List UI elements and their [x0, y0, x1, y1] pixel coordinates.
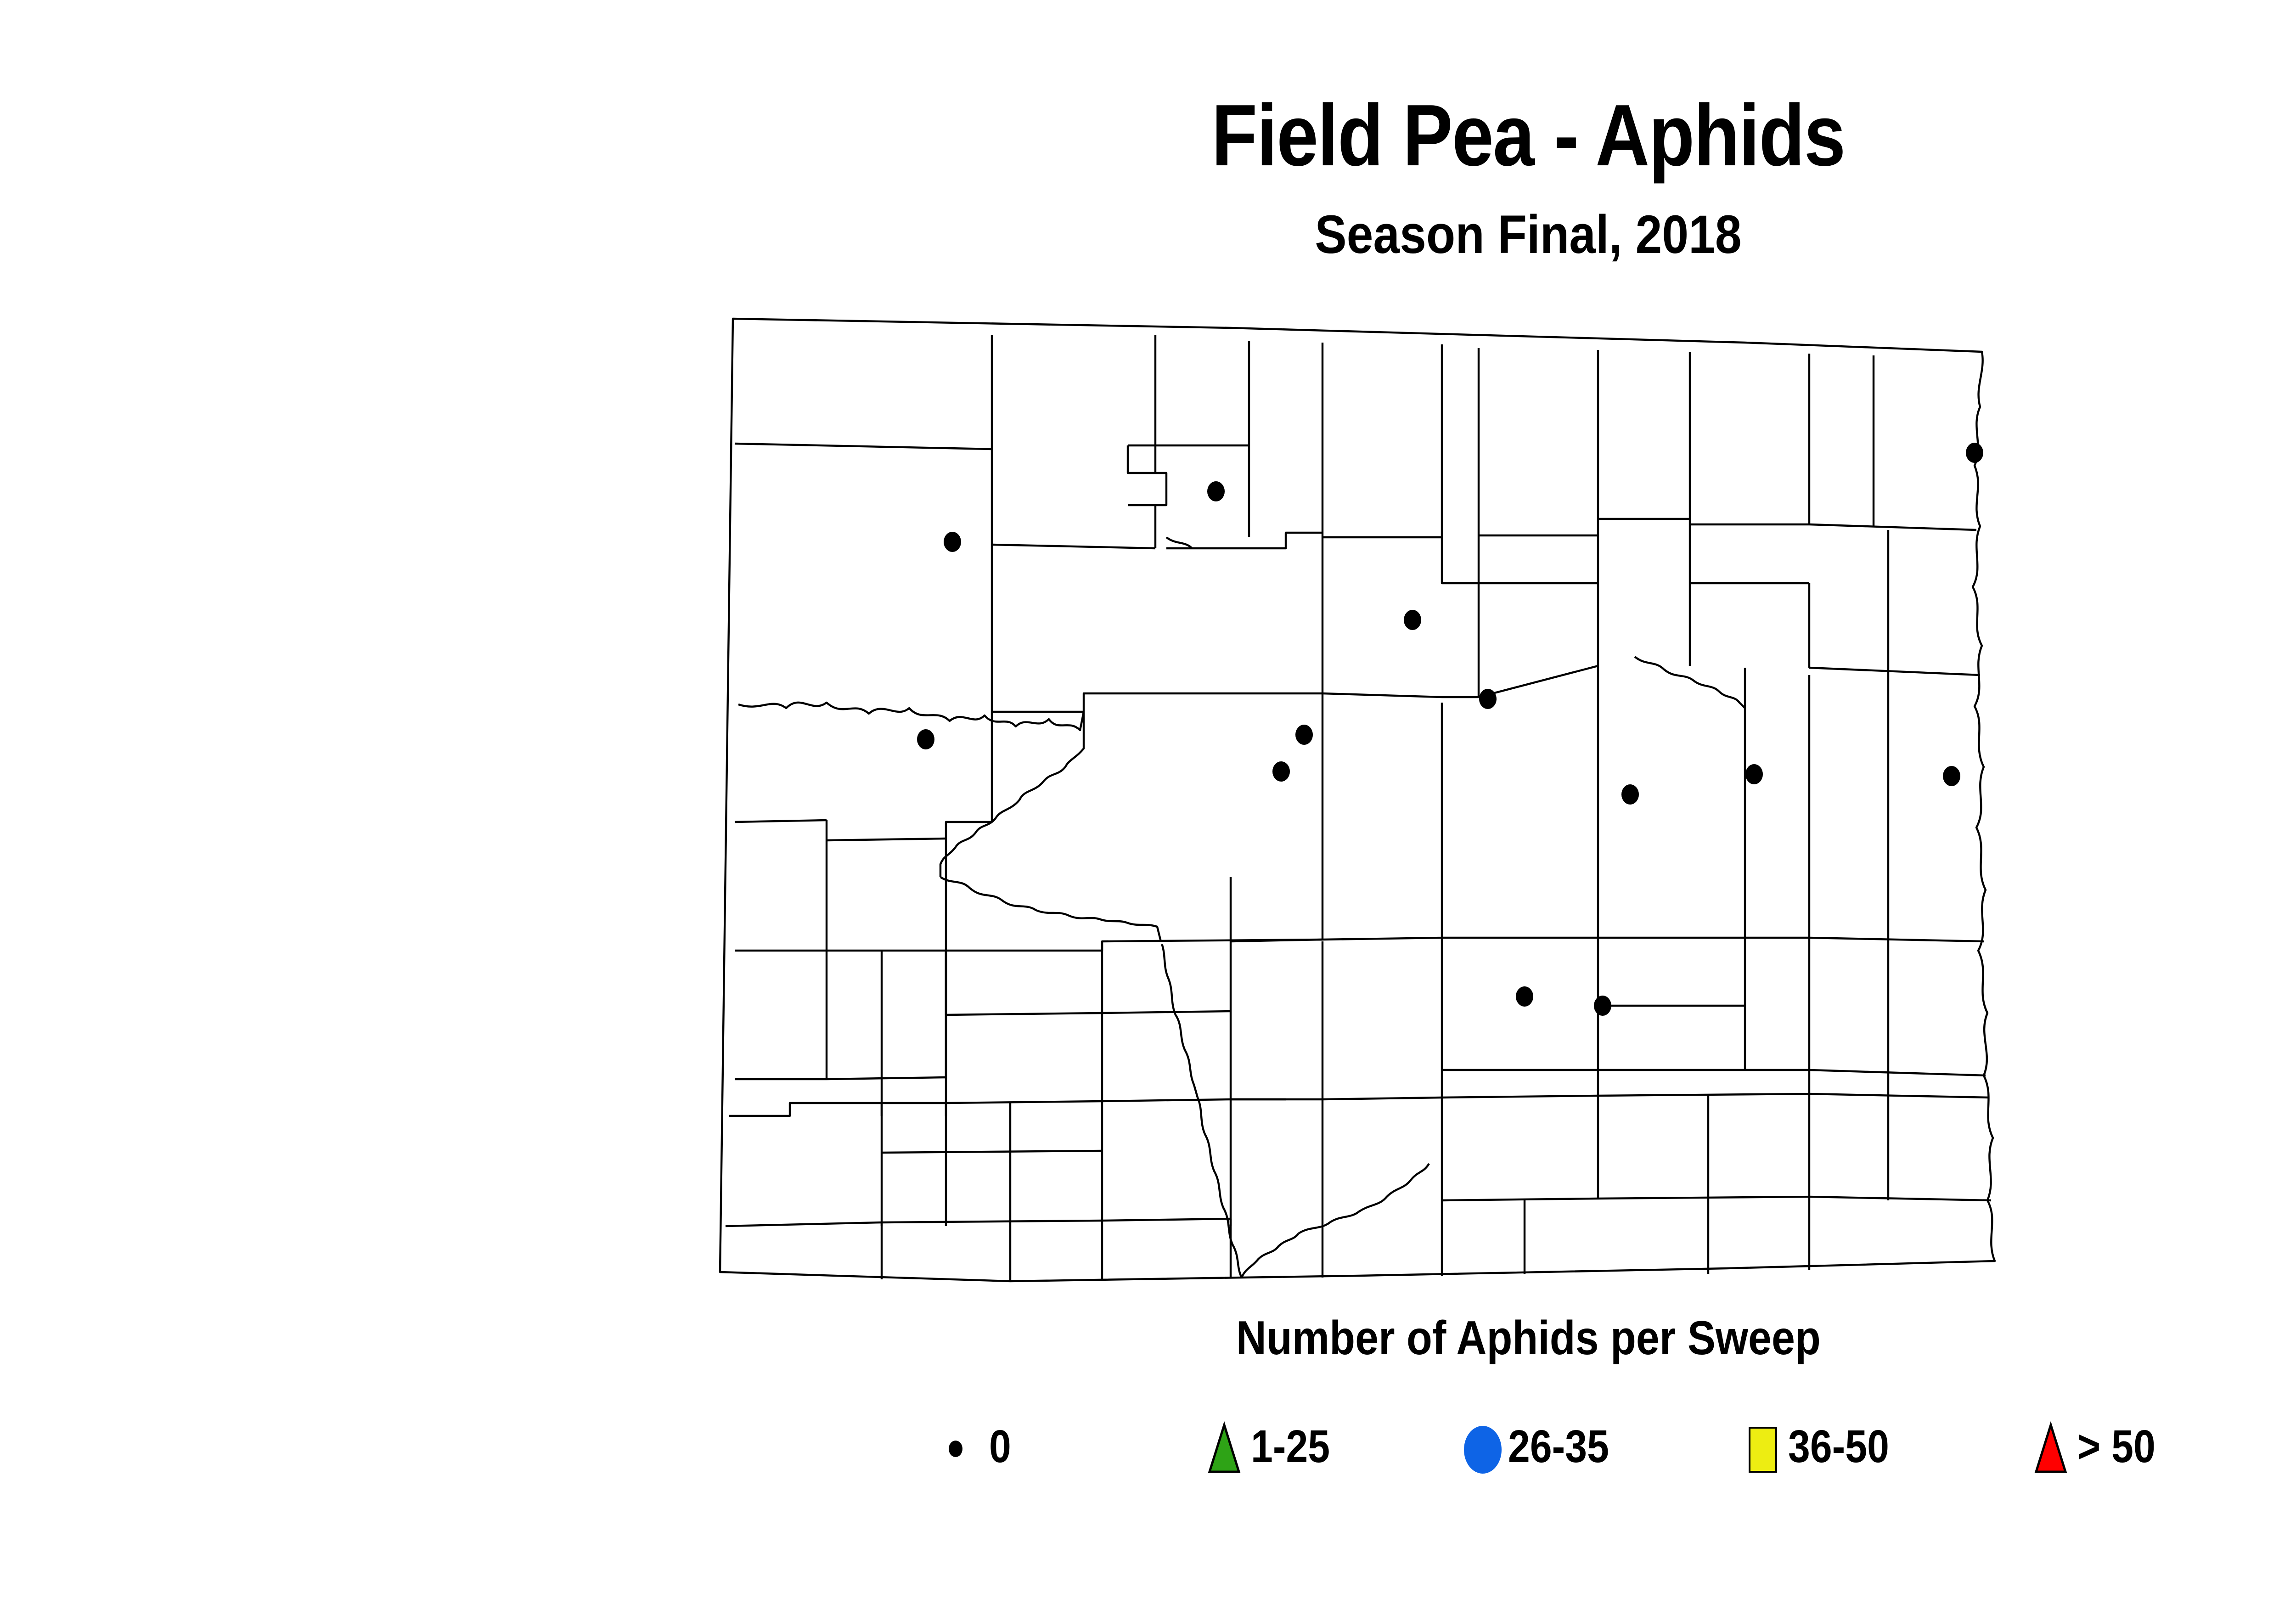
legend-triangle-icon [2030, 1407, 2080, 1486]
legend-label: > 50 [2077, 1424, 2155, 1469]
triangle-glyph [2030, 1407, 2080, 1486]
north-dakota-county-map [716, 308, 2296, 1300]
title-block: Field Pea - Aphids Season Final, 2018 [0, 92, 2296, 262]
map-data-point [944, 532, 961, 552]
map-data-point [1943, 766, 1960, 786]
legend-item[interactable]: 36-50 [1740, 1403, 1906, 1490]
map-data-point [1295, 725, 1313, 745]
square-glyph [1749, 1427, 1777, 1473]
legend-square-icon [1740, 1407, 1791, 1486]
legend-title: Number of Aphids per Sweep [0, 1311, 2296, 1366]
legend-triangle-icon [1203, 1407, 1254, 1486]
map-data-point [1594, 996, 1611, 1016]
map-data-point [917, 729, 934, 749]
triangle-glyph [1203, 1407, 1254, 1486]
legend-circle-icon [1460, 1407, 1511, 1486]
page-root: Field Pea - Aphids Season Final, 2018 [0, 0, 2296, 1610]
county-boundaries [720, 319, 1995, 1281]
legend-item[interactable]: 0 [941, 1403, 1015, 1490]
map-data-point [1272, 761, 1290, 782]
map-data-point [1479, 689, 1497, 709]
map-data-point [1745, 764, 1763, 784]
map-data-point [1207, 481, 1225, 501]
legend-label: 36-50 [1788, 1424, 1889, 1469]
map-data-point [1404, 610, 1421, 630]
legend-item[interactable]: > 50 [2030, 1403, 2168, 1490]
legend-row: 01-2526-3536-50> 50 [941, 1403, 2296, 1490]
circle-glyph [1464, 1426, 1502, 1474]
map-svg [716, 308, 2296, 1300]
legend-small-dot-icon [941, 1407, 992, 1486]
legend-label: 0 [989, 1424, 1011, 1469]
dot-glyph [949, 1441, 962, 1457]
state-outline [720, 319, 1995, 1281]
page-title: Field Pea - Aphids [214, 92, 2296, 179]
map-data-point [1516, 986, 1533, 1007]
map-data-point [1966, 443, 1983, 463]
legend-item[interactable]: 1-25 [1203, 1403, 1343, 1490]
legend-label: 1-25 [1251, 1424, 1330, 1469]
page-subtitle: Season Final, 2018 [183, 208, 2296, 262]
legend-label: 26-35 [1508, 1424, 1609, 1469]
legend-item[interactable]: 26-35 [1460, 1403, 1626, 1490]
map-data-point [1621, 784, 1639, 805]
